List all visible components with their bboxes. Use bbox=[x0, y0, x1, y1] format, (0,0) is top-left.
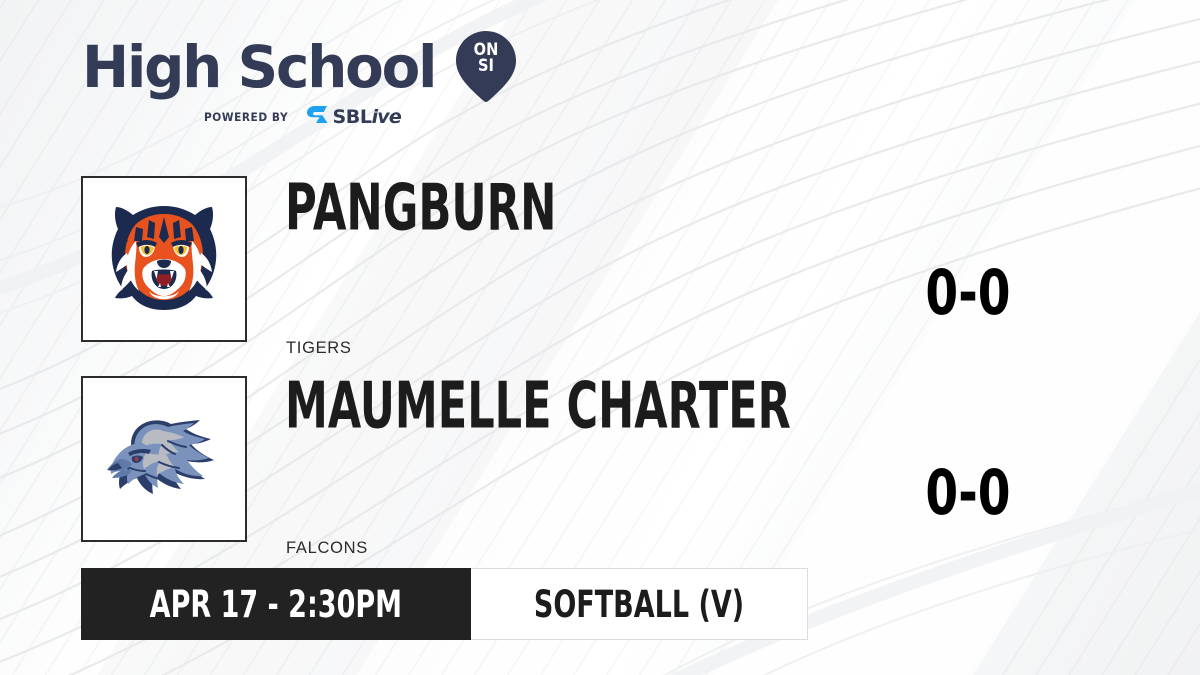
game-sport-block: SOFTBALL (V) bbox=[471, 568, 808, 640]
brand-wordmark-row: High School ON SI bbox=[82, 34, 512, 100]
team-logo-box-0[interactable] bbox=[81, 176, 247, 342]
brand-wordmark: High School bbox=[82, 38, 435, 96]
sblive-primary: SBL bbox=[332, 106, 371, 128]
team-logo-box-1[interactable] bbox=[81, 376, 247, 542]
matchup-graphic: High School ON SI POWERED BY SBLive bbox=[0, 0, 1200, 675]
tiger-head-icon bbox=[105, 203, 223, 315]
sblive-wordmark: SBLive bbox=[332, 108, 400, 127]
on-si-pin-icon: ON SI bbox=[455, 30, 517, 102]
team-mascot-1: FALCONS bbox=[286, 539, 368, 558]
team-mascot-0: TIGERS bbox=[286, 339, 352, 358]
pin-text: ON SI bbox=[460, 42, 513, 74]
team-record-0: 0-0 bbox=[877, 262, 1059, 324]
game-info-bar: APR 17 - 2:30PM SOFTBALL (V) bbox=[81, 568, 808, 640]
powered-by-label: POWERED BY bbox=[204, 110, 288, 124]
game-datetime-block: APR 17 - 2:30PM bbox=[81, 568, 471, 640]
sblive-secondary: ive bbox=[372, 106, 401, 128]
game-datetime-text: APR 17 - 2:30PM bbox=[150, 586, 402, 623]
falcon-head-icon bbox=[102, 413, 226, 505]
brand-logo: High School ON SI POWERED BY SBLive bbox=[82, 34, 512, 129]
team-name-0: PANGBURN bbox=[285, 176, 556, 240]
team-record-1: 0-0 bbox=[877, 462, 1059, 524]
sblive-bolt-icon bbox=[305, 105, 329, 129]
game-sport-text: SOFTBALL (V) bbox=[534, 586, 744, 623]
team-name-1: MAUMELLE CHARTER bbox=[285, 374, 791, 438]
powered-by-row: POWERED BY SBLive bbox=[82, 105, 512, 129]
pin-line-si: SI bbox=[460, 58, 513, 74]
